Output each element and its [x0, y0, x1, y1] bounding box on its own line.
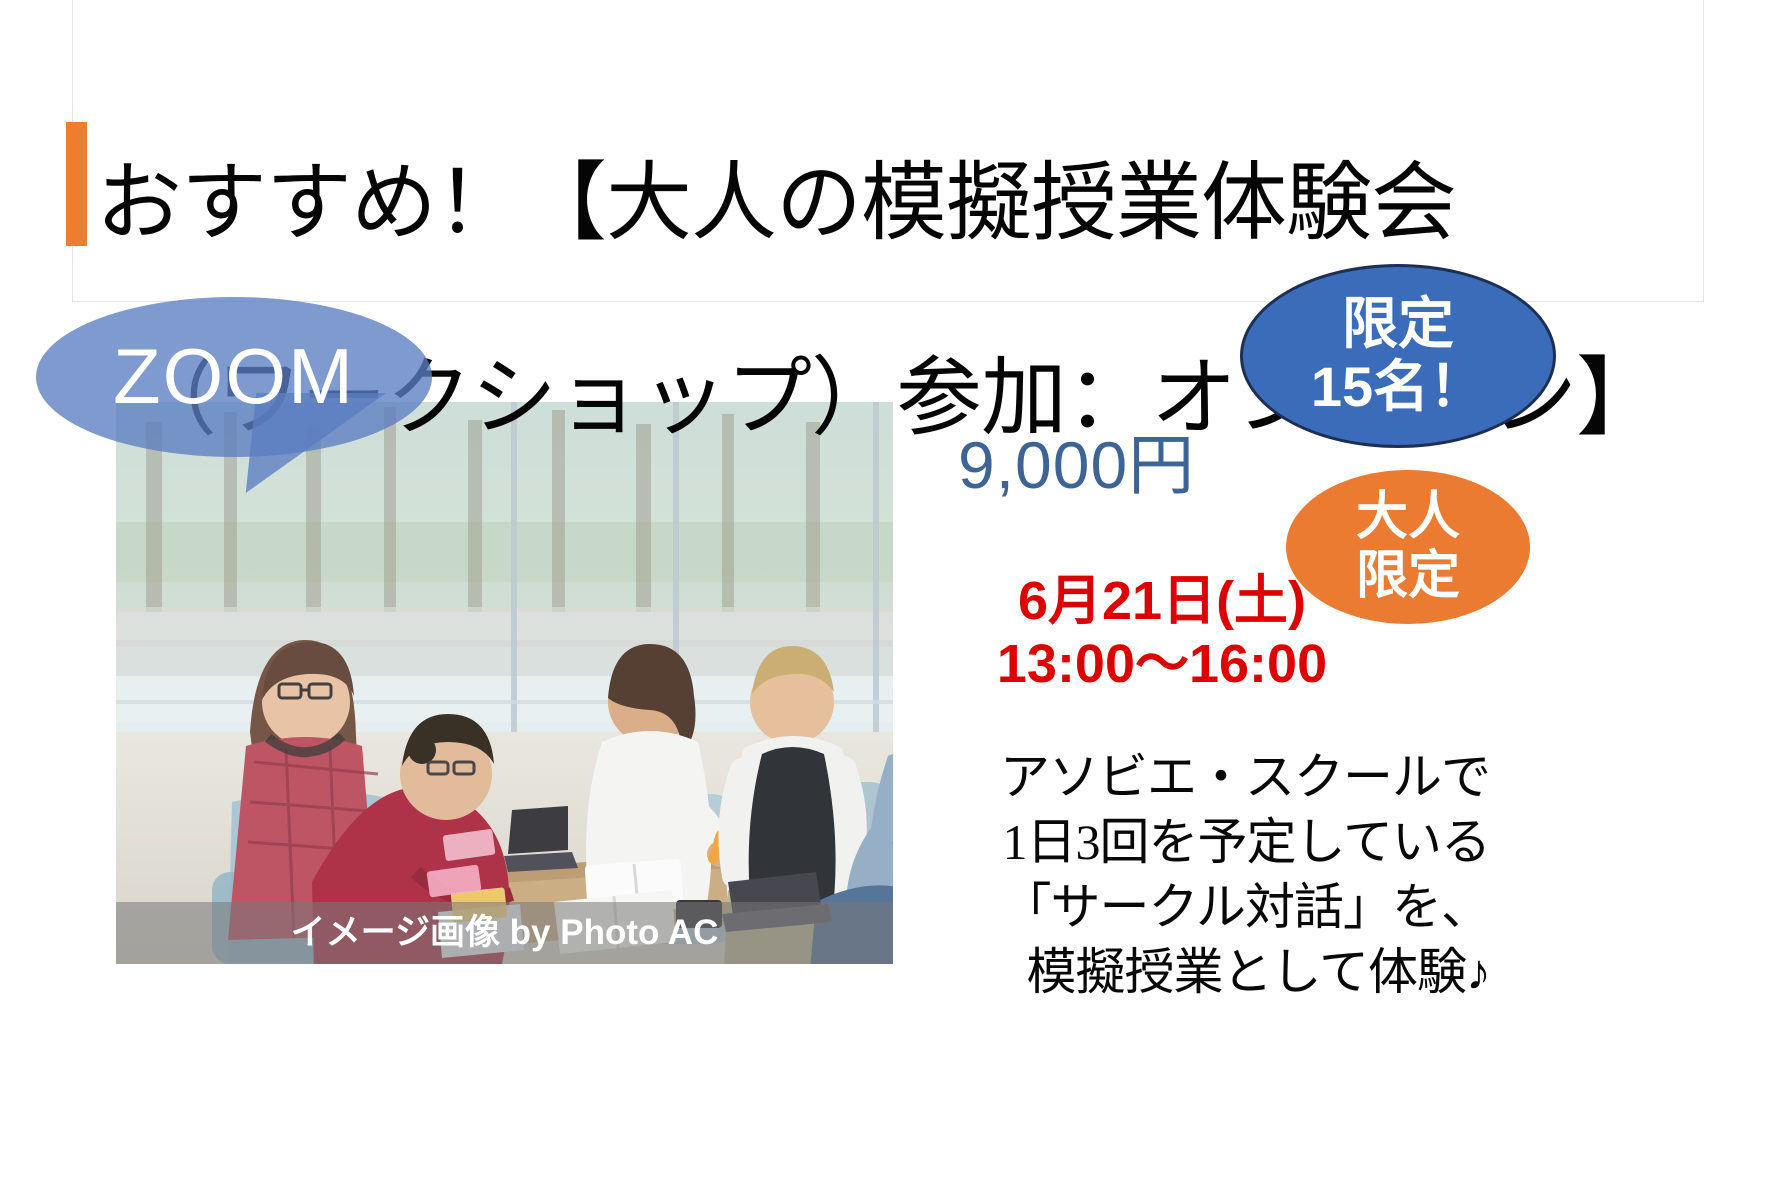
- title-accent-bar: [66, 122, 87, 246]
- description-line-1: アソビエ・スクールで: [950, 745, 1490, 810]
- audience-badge-line-2: 限定: [1356, 547, 1460, 606]
- capacity-badge: 限定 15名！: [1240, 264, 1556, 448]
- capacity-badge-line-1: 限定: [1342, 293, 1454, 356]
- event-description: アソビエ・スクールで 1日3回を予定している 「サークル対話」を、 模擬授業とし…: [950, 745, 1490, 1005]
- capacity-badge-line-2: 15名！: [1311, 356, 1485, 419]
- flyer-canvas: おすすめ！【大人の模擬授業体験会 （ワークショップ）参加：オンライン】 ZOOM: [0, 0, 1772, 1181]
- title-line-1: おすすめ！【大人の模擬授業体験会: [96, 155, 1696, 252]
- event-time: 13:00〜16:00: [952, 633, 1372, 696]
- audience-badge-line-1: 大人: [1356, 488, 1460, 547]
- description-line-4: 模擬授業として体験♪: [950, 940, 1490, 1005]
- photo-caption: イメージ画像 by Photo AC: [116, 902, 893, 964]
- description-line-3: 「サークル対話」を、: [950, 875, 1490, 940]
- description-line-2: 1日3回を予定している: [950, 810, 1490, 875]
- audience-badge: 大人 限定: [1286, 470, 1530, 624]
